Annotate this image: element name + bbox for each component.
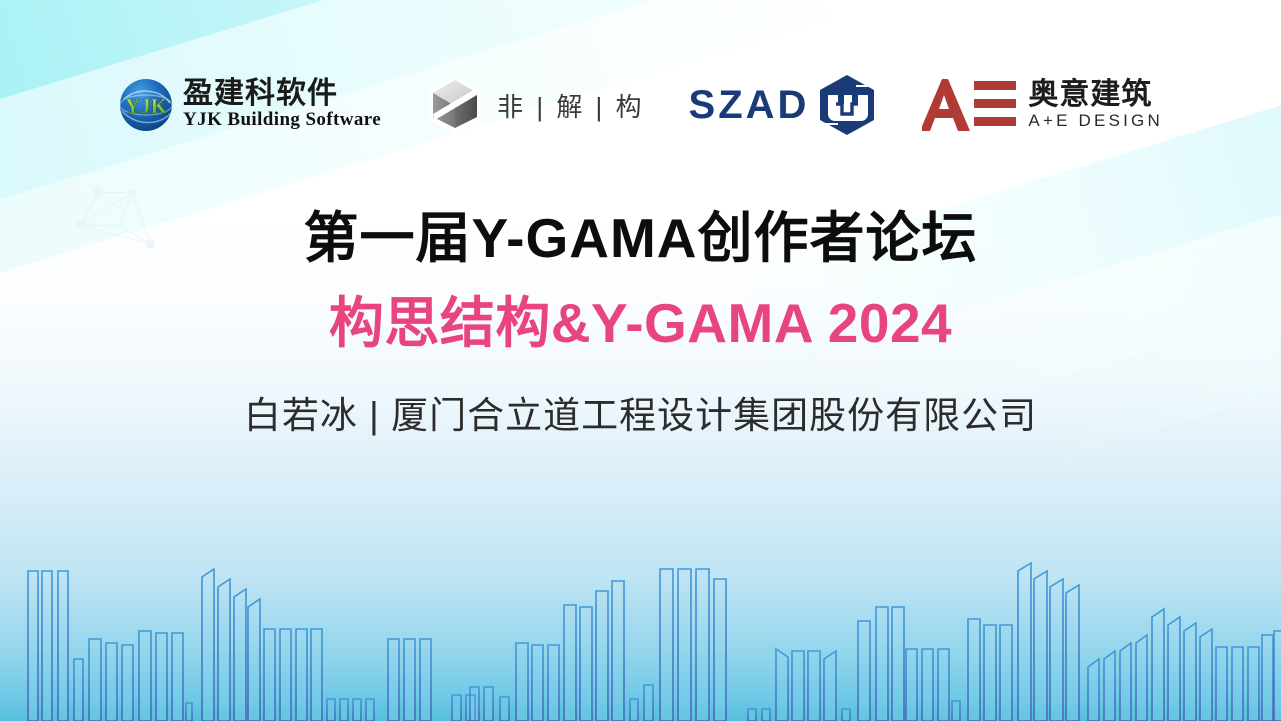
- skyline-building: [1152, 609, 1164, 721]
- skyline-building: [470, 687, 479, 721]
- skyline-building: [388, 639, 399, 721]
- skyline-building: [842, 709, 850, 721]
- skyline-building: [353, 699, 361, 721]
- skyline-building: [762, 709, 770, 721]
- skyline-building: [808, 651, 820, 721]
- ae-monogram-icon: [922, 77, 1018, 133]
- svg-text:YJK: YJK: [125, 94, 168, 118]
- skyline-building: [1200, 629, 1212, 721]
- skyline-building: [28, 571, 38, 721]
- skyline-building: [968, 619, 980, 721]
- skyline-building: [340, 699, 348, 721]
- skyline-building: [532, 645, 543, 721]
- skyline-building: [172, 633, 183, 721]
- ae-wordmark: 奥意建筑 A+E DESIGN: [1028, 79, 1163, 131]
- yjk-name-cn: 盈建科软件: [183, 79, 381, 110]
- logo-yjk: YJK 盈建科软件 YJK Building Software: [118, 68, 381, 142]
- skyline-building: [748, 709, 756, 721]
- skyline-building: [938, 649, 949, 721]
- skyline-building: [1232, 647, 1243, 721]
- sponsor-logo-bar: YJK 盈建科软件 YJK Building Software: [0, 68, 1281, 142]
- szad-wordmark: SZAD: [689, 83, 810, 128]
- yjk-wordmark: 盈建科软件 YJK Building Software: [183, 79, 381, 130]
- skyline-building: [404, 639, 415, 721]
- skyline-building: [296, 629, 307, 721]
- skyline-building: [327, 699, 335, 721]
- skyline-building: [922, 649, 933, 721]
- skyline-building: [1066, 585, 1079, 721]
- skyline-building: [1248, 647, 1259, 721]
- cube-hexagon-icon: [425, 76, 485, 134]
- skyline-building: [564, 605, 576, 721]
- skyline-building: [580, 607, 592, 721]
- skyline-building: [876, 607, 888, 721]
- skyline-building: [1104, 651, 1115, 721]
- skyline-building: [139, 631, 151, 721]
- skyline-building: [516, 643, 528, 721]
- skyline-building: [218, 579, 230, 721]
- skyline-building: [776, 649, 788, 721]
- skyline-building: [1262, 635, 1273, 721]
- skyline-building: [792, 651, 804, 721]
- skyline-building: [612, 581, 624, 721]
- skyline-building: [858, 621, 870, 721]
- yjk-name-en: YJK Building Software: [183, 110, 381, 131]
- skyline-building: [58, 571, 68, 721]
- skyline-building: [696, 569, 709, 721]
- presentation-slide: YJK 盈建科软件 YJK Building Software: [0, 0, 1281, 721]
- skyline-building: [1000, 625, 1012, 721]
- skyline-building: [952, 701, 960, 721]
- skyline-building: [1034, 571, 1047, 721]
- skyline-building: [1120, 643, 1131, 721]
- logo-ae-design: 奥意建筑 A+E DESIGN: [922, 68, 1163, 142]
- skyline-building: [420, 639, 431, 721]
- skyline-building: [234, 589, 246, 721]
- headline-block: 第一届Y-GAMA创作者论坛 构思结构&Y-GAMA 2024 白若冰 | 厦门…: [0, 206, 1281, 440]
- speaker-byline: 白若冰 | 厦门合立道工程设计集团股份有限公司: [0, 392, 1281, 440]
- skyline-building: [264, 629, 275, 721]
- skyline-building: [660, 569, 673, 721]
- skyline-building: [1274, 631, 1281, 721]
- skyline-building: [984, 625, 996, 721]
- skyline-building: [186, 703, 192, 721]
- skyline-building: [1018, 563, 1031, 721]
- skyline-building: [311, 629, 322, 721]
- skyline-building: [280, 629, 291, 721]
- skyline-building: [74, 659, 83, 721]
- skyline-building: [596, 591, 608, 721]
- skyline-building: [548, 645, 559, 721]
- ae-name-cn: 奥意建筑: [1028, 79, 1163, 111]
- skyline-building: [156, 633, 167, 721]
- skyline-building: [106, 643, 117, 721]
- skyline-building: [630, 699, 638, 721]
- skyline-building: [89, 639, 101, 721]
- skyline-building: [452, 695, 461, 721]
- skyline-building: [644, 685, 653, 721]
- skyline-building: [824, 651, 836, 721]
- logo-szad: SZAD: [689, 68, 879, 142]
- skyline-building: [248, 599, 260, 721]
- skyline-building: [500, 697, 509, 721]
- skyline-building: [906, 649, 917, 721]
- szad-hexagon-icon: [816, 73, 878, 137]
- logo-feijiegou: 非 | 解 | 构: [425, 68, 644, 142]
- city-skyline-graphic: [0, 521, 1281, 721]
- skyline-building: [1184, 623, 1196, 721]
- skyline-building: [484, 687, 493, 721]
- slide-subtitle: 构思结构&Y-GAMA 2024: [0, 291, 1281, 356]
- skyline-building: [202, 569, 214, 721]
- skyline-building: [892, 607, 904, 721]
- ae-name-en: A+E DESIGN: [1028, 111, 1163, 131]
- skyline-building: [678, 569, 691, 721]
- yjk-globe-icon: YJK: [118, 77, 174, 133]
- skyline-building: [42, 571, 52, 721]
- skyline-building: [1216, 647, 1227, 721]
- skyline-building: [1050, 579, 1063, 721]
- skyline-building: [366, 699, 374, 721]
- skyline-building: [122, 645, 133, 721]
- skyline-building: [1136, 635, 1147, 721]
- skyline-building: [1088, 659, 1099, 721]
- skyline-building: [1168, 617, 1180, 721]
- feijiegou-wordmark: 非 | 解 | 构: [497, 87, 644, 124]
- slide-title: 第一届Y-GAMA创作者论坛: [0, 206, 1281, 271]
- skyline-building: [714, 579, 726, 721]
